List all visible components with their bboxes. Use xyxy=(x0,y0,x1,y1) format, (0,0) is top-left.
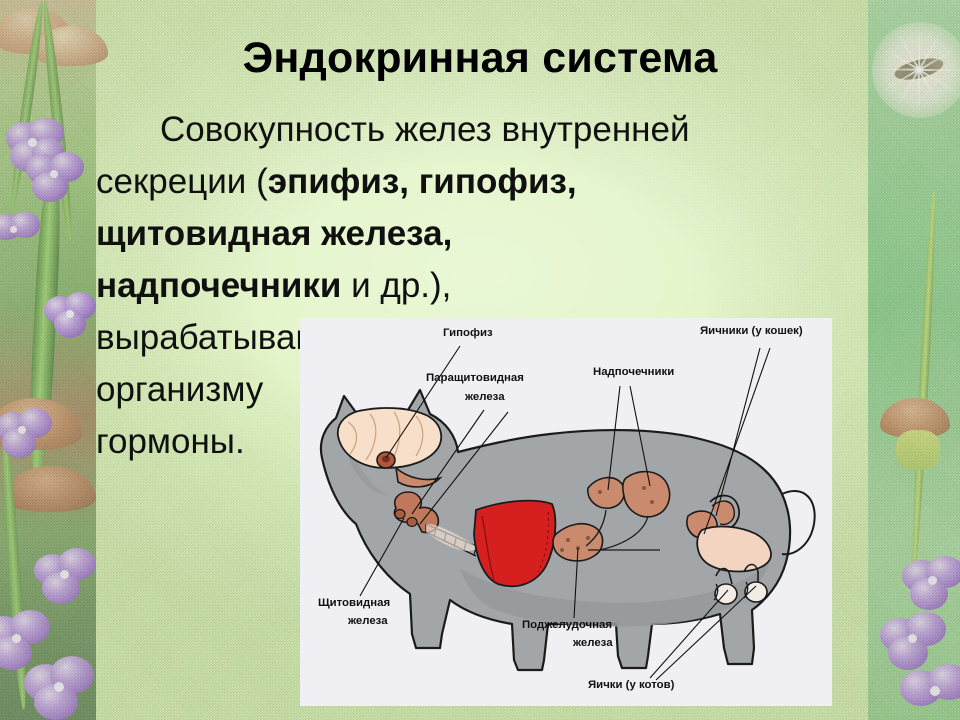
purple-flower-icon xyxy=(26,152,84,204)
purple-flower-icon xyxy=(0,212,40,252)
body-text-run-bold: щитовидная железа, xyxy=(96,214,452,253)
body-line-3: щитовидная железа, xyxy=(96,208,868,260)
body-line-2: секреции (эпифиз, гипофиз, xyxy=(96,156,868,208)
body-text-run: организму xyxy=(96,370,263,409)
label-parathyroid: Паращитовидная xyxy=(426,372,524,384)
plant-leaf xyxy=(896,430,940,470)
body-text-run-bold: эпифиз, гипофиз, xyxy=(268,162,577,201)
body-line-1: Совокупность желез внутренней xyxy=(96,104,868,156)
body-line-4: надпочечники и др.), xyxy=(96,260,868,312)
purple-flower-icon xyxy=(902,556,960,610)
dandelion-icon xyxy=(872,22,960,118)
label-ovaries: Яичники (у кошек) xyxy=(700,325,803,337)
presentation-slide: Эндокринная система Совокупность желез в… xyxy=(0,0,960,720)
left-floral-border xyxy=(0,0,96,720)
purple-flower-icon xyxy=(24,656,94,720)
label-thyroid: Щитовидная xyxy=(318,597,390,609)
label-thyroid-line2: железа xyxy=(347,615,388,627)
label-pancreas-line2: железа xyxy=(572,637,613,649)
body-text-run: и др.), xyxy=(341,266,451,305)
right-floral-border xyxy=(868,0,960,720)
body-text-run: Совокупность желез внутренней xyxy=(160,110,690,149)
pituitary-organ xyxy=(377,452,395,468)
purple-flower-icon xyxy=(44,292,96,338)
label-parathyroid-line2: железа xyxy=(464,391,505,403)
purple-flower-icon xyxy=(880,612,946,670)
label-testes: Яички (у котов) xyxy=(588,679,675,691)
label-pancreas: Поджелудочная xyxy=(522,619,612,631)
purple-flower-icon xyxy=(34,548,96,604)
label-adrenals: Надпочечники xyxy=(593,366,674,378)
body-text-run-bold: надпочечники xyxy=(96,266,341,305)
slide-title: Эндокринная система xyxy=(96,36,864,81)
label-pituitary: Гипофиз xyxy=(443,327,493,339)
body-text-run: гормоны. xyxy=(96,422,245,461)
purple-flower-icon xyxy=(900,664,960,720)
cat-endocrine-diagram-image: Гипофиз Паращитовидная железа Надпочечни… xyxy=(300,318,832,706)
body-text-run: секреции ( xyxy=(96,162,268,201)
purple-flower-icon xyxy=(0,408,52,458)
